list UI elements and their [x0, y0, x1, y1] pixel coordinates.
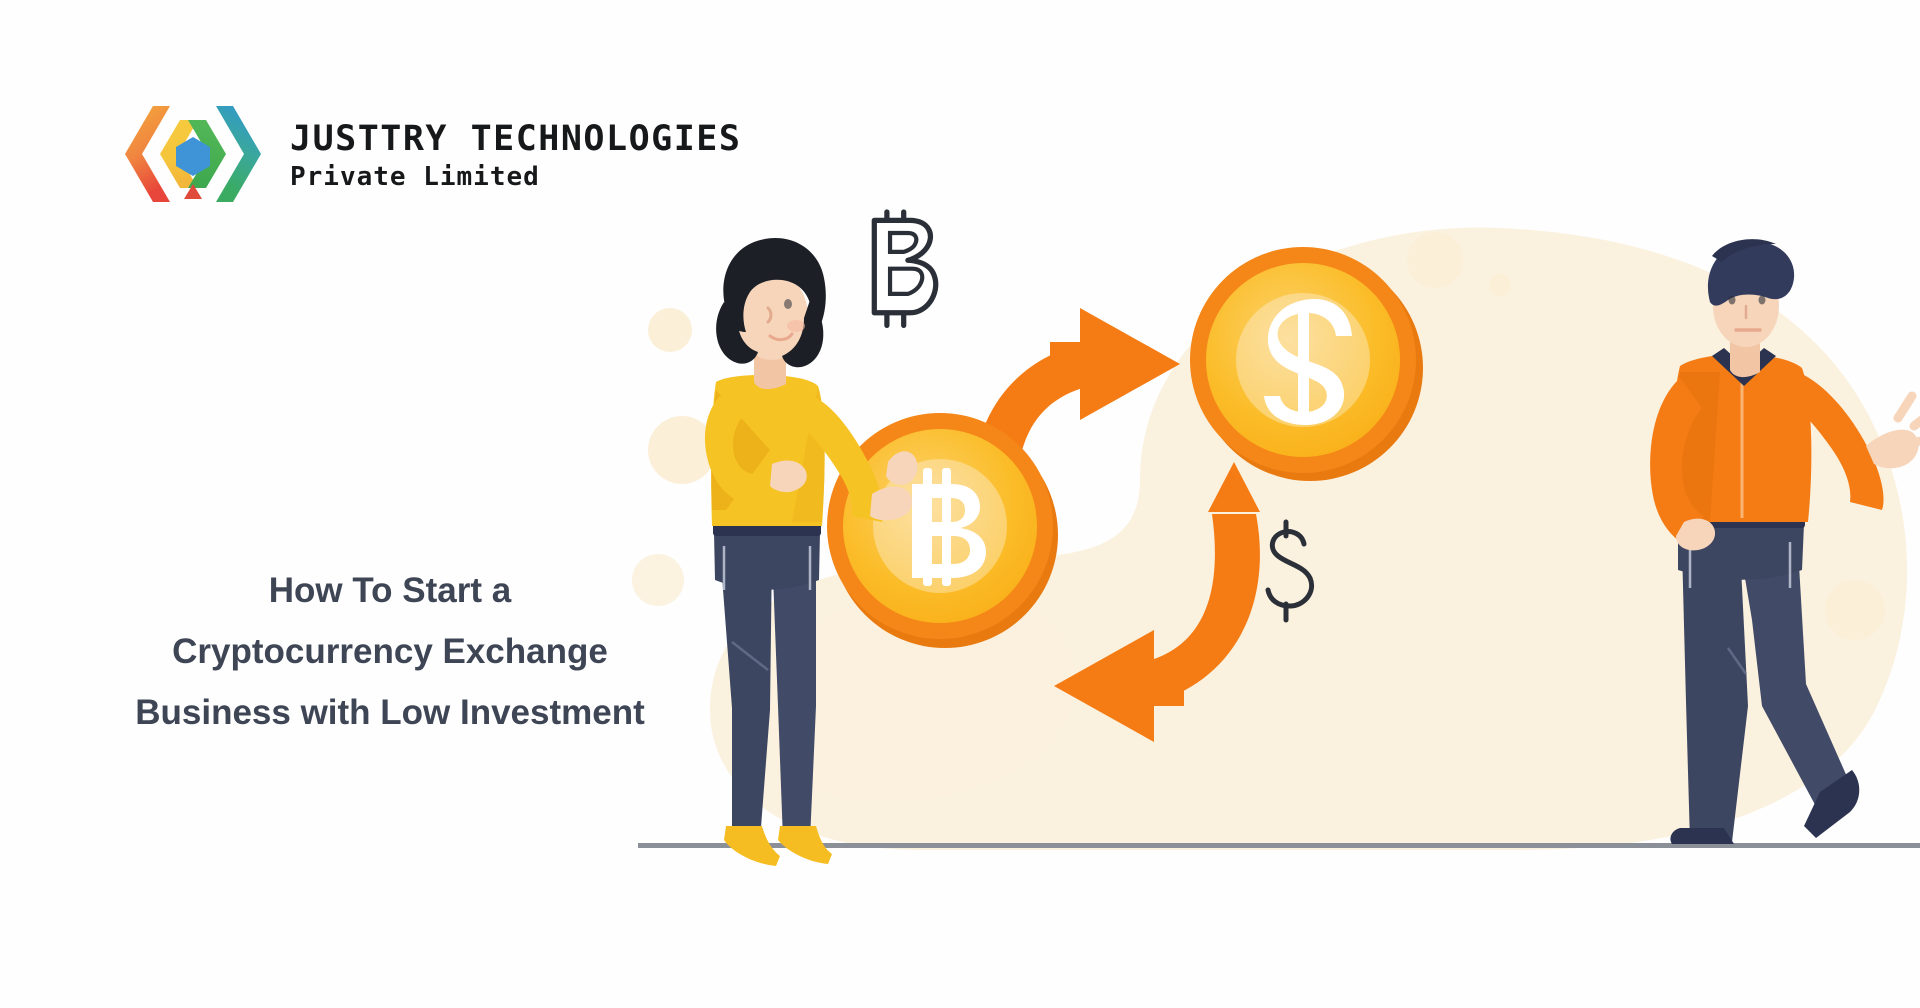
- crypto-exchange-illustration: [620, 150, 1920, 910]
- hexagon-code-bracket-logo-icon: [118, 100, 268, 208]
- hero-banner: JUSTTRY TECHNOLOGIES Private Limited How…: [0, 0, 1920, 1008]
- bitcoin-outline-icon: [874, 212, 935, 325]
- illustration-svg: [620, 150, 1920, 910]
